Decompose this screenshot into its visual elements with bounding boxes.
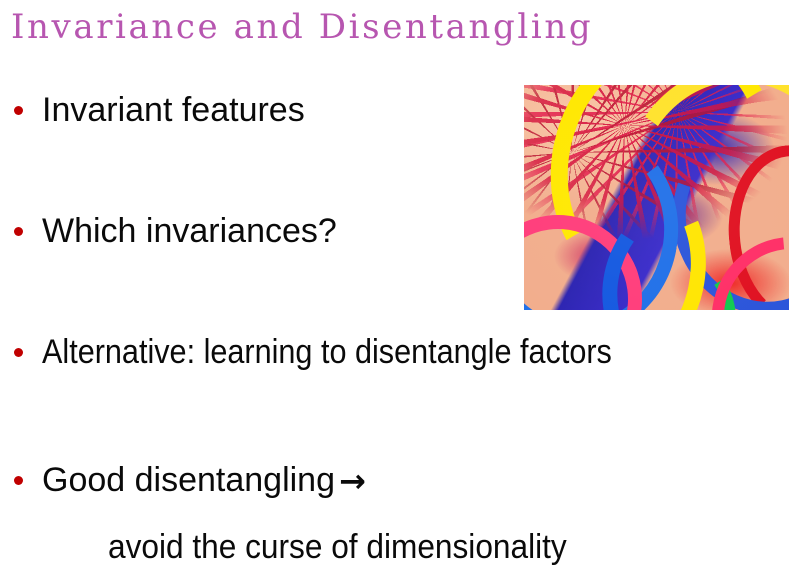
right-arrow-icon: → [335, 462, 366, 500]
bullet-dot-icon [14, 106, 23, 115]
list-item-label-wrapper: Good disentangling→ [42, 460, 366, 501]
slide-canvas: Invariance and Disentangling Invariant f… [0, 0, 789, 570]
bullet-dot-icon [14, 348, 23, 357]
list-item-label: Alternative: learning to disentangle fac… [42, 332, 612, 372]
page-title: Invariance and Disentangling [11, 4, 711, 50]
list-item: Good disentangling→ [0, 454, 789, 506]
list-item-label: Invariant features [42, 90, 305, 130]
list-item-sub: avoid the curse of dimensionality [0, 521, 789, 570]
bullet-dot-icon [14, 227, 23, 236]
list-item-sub-label: avoid the curse of dimensionality [108, 527, 567, 567]
list-item: Alternative: learning to disentangle fac… [0, 326, 789, 378]
list-item-label: Which invariances? [42, 211, 337, 251]
list-item-label: Good disentangling [42, 461, 335, 499]
bullet-dot-icon [14, 476, 23, 485]
photo-overlay [524, 85, 789, 310]
cables-photo [524, 85, 789, 310]
